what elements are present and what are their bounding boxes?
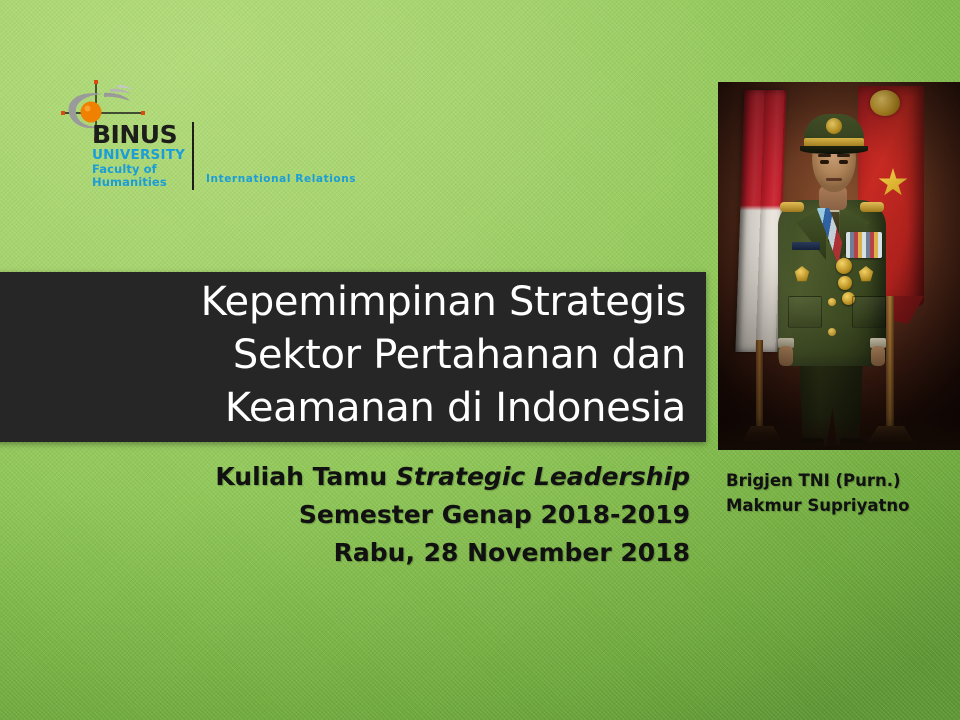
wordmark-faculty: Faculty of [92,163,222,177]
department-label: International Relations [206,173,356,185]
subtitle-line-1-italic: Strategic Leadership [396,462,690,491]
title-band: Kepemimpinan Strategis Sektor Pertahanan… [0,272,706,442]
presentation-slide: BINUS UNIVERSITY Faculty of Humanities I… [0,0,960,720]
wordmark-university: UNIVERSITY [92,148,222,163]
speaker-block: Brigjen TNI (Purn.) Makmur Supriyatno [726,468,956,518]
speaker-portrait [718,82,960,450]
wordmark-humanities: Humanities [92,176,222,190]
logo-divider [192,122,194,190]
binus-logo-block: BINUS UNIVERSITY Faculty of Humanities I… [60,80,360,195]
speaker-name: Makmur Supriyatno [726,493,956,518]
subtitle-line-1: Kuliah Tamu Strategic Leadership [200,458,690,496]
subtitle-line-1-prefix: Kuliah Tamu [215,462,396,491]
subtitle-line-3: Rabu, 28 November 2018 [200,534,690,572]
subtitle-block: Kuliah Tamu Strategic Leadership Semeste… [200,458,690,572]
binus-wordmark: BINUS UNIVERSITY Faculty of Humanities [92,122,222,190]
subtitle-line-2: Semester Genap 2018-2019 [200,496,690,534]
page-title: Kepemimpinan Strategis Sektor Pertahanan… [26,276,686,435]
speaker-rank: Brigjen TNI (Purn.) [726,468,956,493]
portrait-vignette [718,82,960,450]
wordmark-brand: BINUS [92,122,222,148]
